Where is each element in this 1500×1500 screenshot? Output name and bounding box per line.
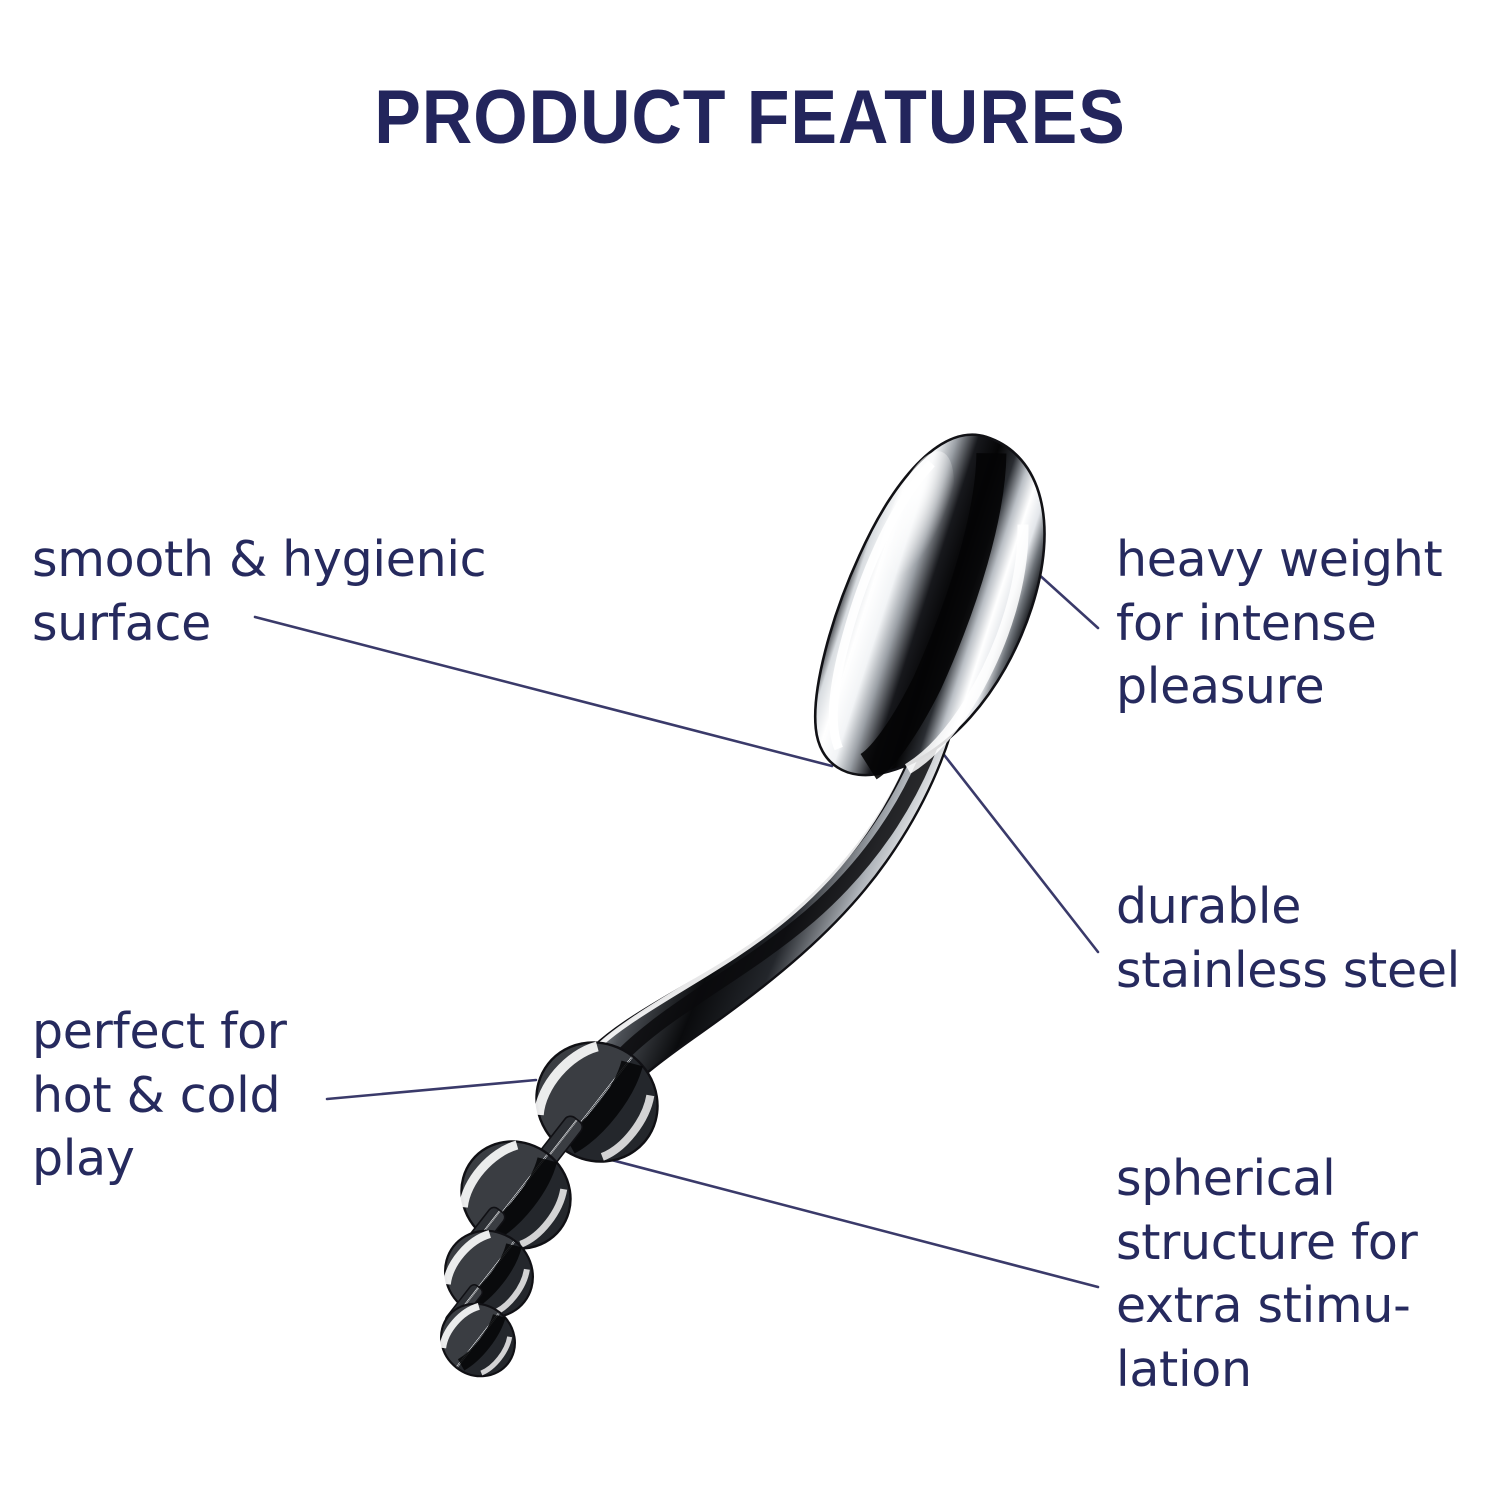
feature-label-durable-stainless-steel: durable stainless steel bbox=[1116, 875, 1500, 1002]
infographic-canvas: PRODUCT FEATURES bbox=[0, 0, 1500, 1500]
product-bead-3 bbox=[428, 1213, 551, 1335]
product-waist-2 bbox=[455, 1205, 507, 1265]
leader-line-spherical-structure bbox=[600, 1157, 1098, 1287]
product-waist-1 bbox=[525, 1113, 585, 1182]
feature-label-smooth-hygienic-surface: smooth & hygienic surface bbox=[32, 528, 562, 655]
product-bead-4 bbox=[427, 1289, 530, 1391]
feature-label-spherical-structure: spherical structure for extra stimu- lat… bbox=[1116, 1147, 1496, 1402]
product-bulb bbox=[791, 410, 1078, 811]
page-title: PRODUCT FEATURES bbox=[60, 78, 1440, 158]
product-bead-2 bbox=[440, 1120, 592, 1271]
shaft-highlight bbox=[584, 712, 922, 1062]
product-waist-3 bbox=[444, 1283, 485, 1329]
leader-line-durable-stainless-steel bbox=[934, 742, 1098, 952]
feature-label-hot-cold-play: perfect for hot & cold play bbox=[32, 1000, 372, 1191]
feature-label-heavy-weight: heavy weight for intense pleasure bbox=[1116, 528, 1500, 719]
leader-line-heavy-weight bbox=[1005, 544, 1098, 628]
product-shaft bbox=[575, 700, 958, 1098]
leader-lines bbox=[255, 544, 1098, 1287]
shaft-core-reflection bbox=[610, 706, 944, 1070]
product-bead-1 bbox=[512, 1018, 681, 1186]
